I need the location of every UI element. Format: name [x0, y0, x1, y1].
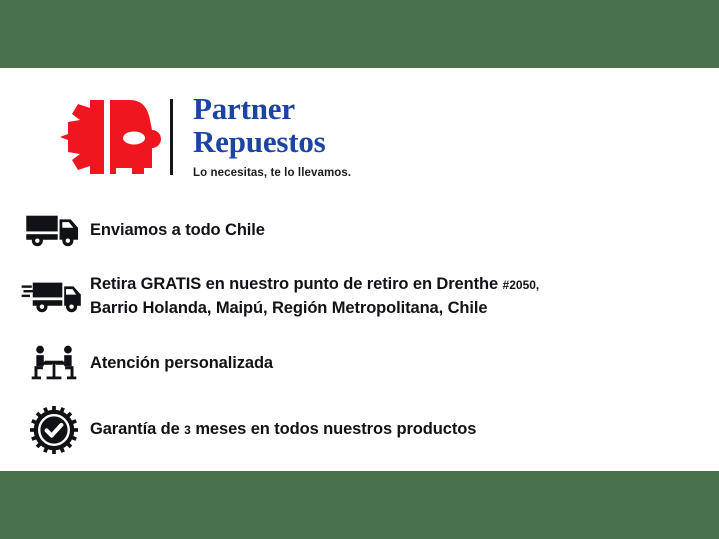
- brand-name-line-2: Repuestos: [193, 125, 351, 158]
- feature-text-attention: Atención personalizada: [90, 352, 273, 375]
- moving-truck-icon: [18, 278, 90, 315]
- feature-text-pickup: Retira GRATIS en nuestro punto de retiro…: [90, 273, 539, 320]
- people-at-table-icon: [18, 343, 90, 384]
- brand-logo-block: Partner Repuestos Lo necesitas, te lo ll…: [58, 92, 351, 181]
- feature-text-pickup-line2: Barrio Holanda, Maipú, Región Metropolit…: [90, 299, 487, 317]
- guarantee-seal-check-icon: [18, 406, 90, 454]
- feature-text-pickup-line1: Retira GRATIS en nuestro punto de retiro…: [90, 275, 503, 293]
- feature-text-pickup-number: #2050,: [503, 278, 540, 292]
- bottom-green-band: [0, 471, 719, 539]
- feature-list: Enviamos a todo Chile: [18, 207, 708, 473]
- feature-text-warranty-before: Garantía de: [90, 420, 184, 438]
- gear-car-logo-icon: [58, 94, 162, 180]
- feature-text-warranty: Garantía de 3 meses en todos nuestros pr…: [90, 418, 476, 442]
- brand-wordmark: Partner Repuestos Lo necesitas, te lo ll…: [193, 92, 351, 181]
- feature-row-attention: Atención personalizada: [18, 339, 708, 387]
- delivery-truck-icon: [18, 212, 90, 249]
- feature-row-shipping: Enviamos a todo Chile: [18, 207, 708, 253]
- brand-name-line-1: Partner: [193, 92, 351, 125]
- feature-text-warranty-after: meses en todos nuestros productos: [191, 420, 476, 438]
- feature-text-shipping: Enviamos a todo Chile: [90, 219, 265, 242]
- top-green-band: [0, 0, 719, 68]
- promo-banner: Partner Repuestos Lo necesitas, te lo ll…: [0, 0, 719, 539]
- brand-tagline: Lo necesitas, te lo llevamos.: [193, 166, 351, 181]
- logo-divider: [170, 99, 173, 175]
- feature-row-pickup: Retira GRATIS en nuestro punto de retiro…: [18, 271, 708, 321]
- feature-row-warranty: Garantía de 3 meses en todos nuestros pr…: [18, 405, 708, 455]
- feature-text-warranty-number: 3: [184, 423, 191, 437]
